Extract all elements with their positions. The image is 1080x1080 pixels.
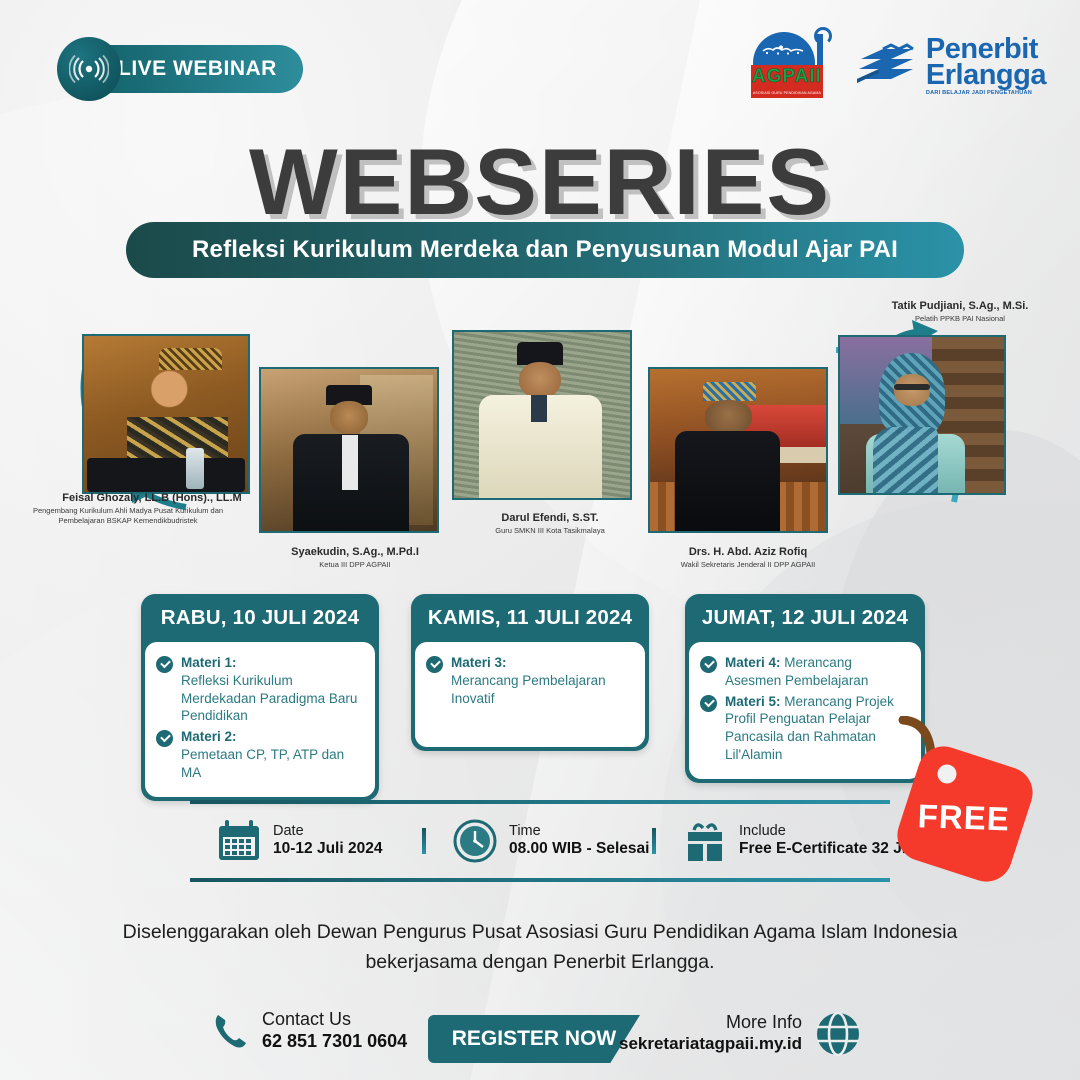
- info-time: Time 08.00 WIB - Selesai: [422, 818, 652, 864]
- calendar-icon: [216, 818, 262, 864]
- phone-icon: [212, 1011, 250, 1051]
- organizer-line2: bekerjasama dengan Penerbit Erlangga.: [365, 951, 714, 973]
- page-title: WEBSERIES: [0, 128, 1080, 236]
- schedule-date-3: JUMAT, 12 JULI 2024: [685, 594, 925, 642]
- schedule-card-1: RABU, 10 JULI 2024 Materi 1: Refleksi Ku…: [141, 594, 379, 801]
- speaker-photo-2: [259, 367, 439, 533]
- materi-label: Materi 1:: [181, 655, 237, 670]
- speaker-role-2: Ketua III DPP AGPAII: [255, 560, 455, 570]
- stacked-books-icon: [853, 39, 917, 93]
- divider-line: [652, 828, 656, 854]
- schedule-card-2: KAMIS, 11 JULI 2024 Materi 3: Merancang …: [411, 594, 649, 751]
- speaker-role-5: Pelatih PPKB PAI Nasional: [850, 314, 1070, 324]
- schedule-item: Materi 1: Refleksi Kurikulum Merdekadan …: [156, 654, 363, 725]
- organizer-note: Diselenggarakan oleh Dewan Pengurus Pusa…: [80, 918, 1000, 977]
- divider-line: [190, 878, 890, 882]
- speaker-photo-4: [648, 367, 828, 533]
- speaker-name-5: Tatik Pudjiani, S.Ag., M.Si.: [850, 300, 1070, 312]
- time-value: 08.00 WIB - Selesai: [509, 840, 649, 859]
- globe-icon: [814, 1010, 862, 1058]
- schedule-item: Materi 5: Merancang Projek Profil Pengua…: [700, 693, 909, 764]
- schedule-date-2: KAMIS, 11 JULI 2024: [411, 594, 649, 642]
- check-icon: [700, 695, 717, 712]
- more-info-label: More Info: [619, 1013, 802, 1033]
- schedule-item: Materi 2: Pemetaan CP, TP, ATP dan MA: [156, 728, 363, 781]
- free-label: FREE: [904, 797, 1023, 839]
- contact-info[interactable]: Contact Us 62 851 7301 0604: [212, 1010, 407, 1052]
- speaker-role-1: Pengembang Kurikulum Ahli Madya Pusat Ku…: [28, 506, 228, 526]
- speaker-photo-3: [452, 330, 632, 500]
- schedule-item: Materi 3: Merancang Pembelajaran Inovati…: [426, 654, 633, 707]
- schedule-items-3: Materi 4: Merancang Asesmen Pembelajaran…: [689, 642, 921, 779]
- check-icon: [156, 730, 173, 747]
- speaker-name-4: Drs. H. Abd. Aziz Rofiq: [648, 546, 848, 558]
- minaret-icon: [817, 34, 823, 68]
- schedule-date-1: RABU, 10 JULI 2024: [141, 594, 379, 642]
- gift-icon: [682, 818, 728, 864]
- info-include: Include Free E-Certificate 32 JPL: [652, 818, 890, 864]
- register-now-button[interactable]: REGISTER NOW: [428, 1015, 640, 1063]
- schedule-item: Materi 4: Merancang Asesmen Pembelajaran: [700, 654, 909, 690]
- speaker-name-1: Feisal Ghozaly, LL.B (Hons)., LL.M: [22, 492, 282, 504]
- logo-group: AGPAII ASOSIASI GURU PENDIDIKAN AGAMA IS…: [751, 28, 1046, 104]
- divider-line: [422, 828, 426, 854]
- speaker-role-4: Wakil Sekretaris Jenderal II DPP AGPAII: [643, 560, 853, 570]
- register-label: REGISTER NOW: [452, 1027, 617, 1051]
- speaker-photo-1: [82, 334, 250, 494]
- materi-label: Materi 5:: [725, 694, 781, 709]
- contact-label: Contact Us: [262, 1010, 407, 1030]
- info-date: Date 10-12 Juli 2024: [190, 818, 422, 864]
- indonesia-map-icon: [761, 42, 807, 58]
- check-icon: [156, 656, 173, 673]
- agpaii-logo: AGPAII ASOSIASI GURU PENDIDIKAN AGAMA IS…: [751, 28, 829, 104]
- schedule-card-3: JUMAT, 12 JULI 2024 Materi 4: Merancang …: [685, 594, 925, 783]
- subtitle-banner: Refleksi Kurikulum Merdeka dan Penyusuna…: [126, 222, 964, 278]
- organizer-line1: Diselenggarakan oleh Dewan Pengurus Pusa…: [123, 921, 958, 943]
- materi-label: Materi 3:: [451, 655, 507, 670]
- schedule-items-2: Materi 3: Merancang Pembelajaran Inovati…: [415, 642, 645, 747]
- erlangga-line1: Penerbit: [926, 36, 1046, 63]
- penerbit-erlangga-logo: Penerbit Erlangga DARI BELAJAR JADI PENG…: [853, 36, 1046, 96]
- check-icon: [426, 656, 443, 673]
- contact-value: 62 851 7301 0604: [262, 1030, 407, 1053]
- agpaii-tagline: ASOSIASI GURU PENDIDIKAN AGAMA ISLAM IND…: [751, 89, 823, 98]
- website-url: sekretariatagpaii.my.id: [619, 1033, 802, 1054]
- agpaii-wordmark: AGPAII: [751, 65, 823, 89]
- erlangga-tagline: DARI BELAJAR JADI PENGETAHUAN: [926, 91, 1046, 96]
- webinar-poster: LIVE WEBINAR AGPAII ASOSIASI GURU PENDID…: [0, 0, 1080, 1080]
- live-webinar-label: LIVE WEBINAR: [118, 57, 277, 81]
- schedule-items-1: Materi 1: Refleksi Kurikulum Merdekadan …: [145, 642, 375, 797]
- erlangga-line2: Erlangga: [926, 62, 1046, 89]
- bottom-bar: Contact Us 62 851 7301 0604 REGISTER NOW…: [0, 1004, 1080, 1070]
- speaker-role-3: Guru SMKN III Kota Tasikmalaya: [450, 526, 650, 536]
- date-label: Date: [273, 823, 382, 840]
- live-webinar-badge: LIVE WEBINAR: [60, 45, 303, 93]
- time-label: Time: [509, 823, 649, 840]
- materi-label: Materi 4:: [725, 655, 781, 670]
- clock-icon: [452, 818, 498, 864]
- check-icon: [700, 656, 717, 673]
- materi-label: Materi 2:: [181, 729, 237, 744]
- date-value: 10-12 Juli 2024: [273, 840, 382, 859]
- materi-text: Pemetaan CP, TP, ATP dan MA: [181, 747, 344, 780]
- broadcast-icon: [57, 37, 121, 101]
- info-bar: Date 10-12 Juli 2024 Time 08.00 WIB - Se…: [190, 800, 890, 882]
- speaker-name-3: Darul Efendi, S.ST.: [450, 512, 650, 524]
- speaker-photo-5: [838, 335, 1006, 495]
- more-info[interactable]: More Info sekretariatagpaii.my.id: [619, 1010, 862, 1058]
- materi-text: Refleksi Kurikulum Merdekadan Paradigma …: [181, 673, 357, 724]
- speaker-name-2: Syaekudin, S.Ag., M.Pd.I: [255, 546, 455, 558]
- subtitle-text: Refleksi Kurikulum Merdeka dan Penyusuna…: [192, 236, 898, 264]
- materi-text: Merancang Pembelajaran Inovatif: [451, 673, 606, 706]
